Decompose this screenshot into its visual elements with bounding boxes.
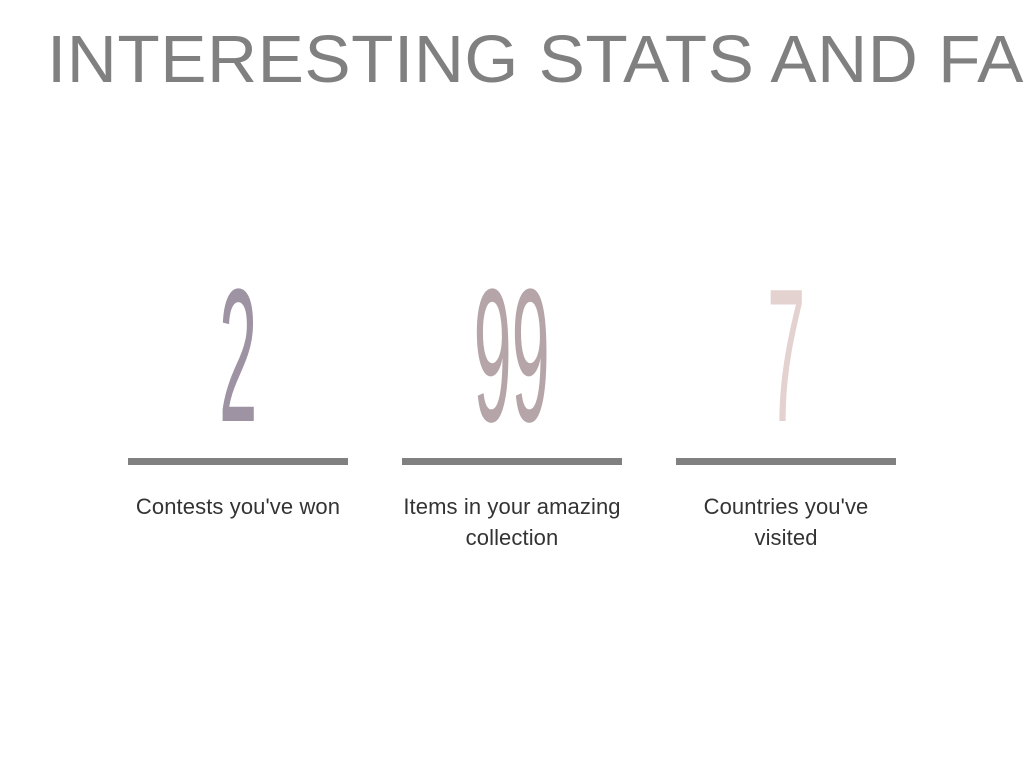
- stat-caption: Countries you've visited: [669, 491, 903, 553]
- slide-canvas: { "slide": { "title": "INTERESTING STATS…: [0, 0, 1024, 768]
- stat-caption: Contests you've won: [121, 491, 355, 522]
- stat-caption: Items in your amazing collection: [395, 491, 629, 553]
- stat-value: 99: [474, 280, 550, 432]
- stat-value: 7: [767, 280, 804, 432]
- stat-card-countries: 7 Countries you've visited: [649, 280, 923, 553]
- stat-value-container: 99: [375, 280, 649, 460]
- stat-card-contests: 2 Contests you've won: [101, 280, 375, 522]
- stat-value-container: 2: [101, 280, 375, 460]
- stats-row: 2 Contests you've won 99 Items in your a…: [0, 280, 1024, 570]
- stat-value-container: 7: [649, 280, 923, 460]
- page-title: INTERESTING STATS AND FACTS: [47, 24, 1016, 96]
- stat-value: 2: [219, 280, 256, 432]
- stat-card-items: 99 Items in your amazing collection: [375, 280, 649, 553]
